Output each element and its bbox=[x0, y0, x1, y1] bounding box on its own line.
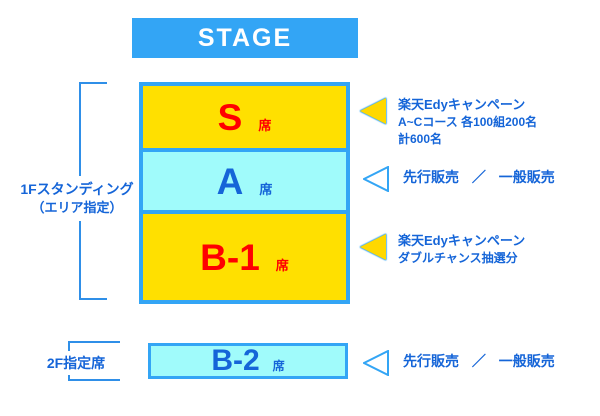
annotation-b1-seat: 楽天Edyキャンペーン ダブルチャンス抽選分 bbox=[360, 232, 525, 267]
seat-block-b2-letter: B-2 bbox=[211, 346, 259, 376]
annotation-s-seat-text: 楽天Edyキャンペーン A~Cコース 各100組200名 計600名 bbox=[398, 96, 537, 149]
annotation-a-seat-separator: ／ bbox=[463, 169, 495, 185]
seat-block-s-suffix: 席 bbox=[258, 119, 271, 132]
annotation-b1-seat-line2: ダブルチャンス抽選分 bbox=[398, 250, 525, 267]
seat-block-b2[interactable]: B-2 席 bbox=[148, 343, 348, 379]
floor1-group-label: 1Fスタンディング （エリア指定） bbox=[2, 176, 152, 221]
seat-block-a[interactable]: A 席 bbox=[143, 148, 346, 210]
seat-block-s-label: S 席 bbox=[218, 99, 272, 136]
annotation-s-seat: 楽天Edyキャンペーン A~Cコース 各100組200名 計600名 bbox=[360, 96, 537, 149]
seat-block-s-letter: S bbox=[218, 99, 243, 136]
seat-block-b1-suffix: 席 bbox=[276, 259, 289, 272]
seat-block-b1-label: B-1 席 bbox=[200, 239, 289, 276]
annotation-a-seat-text: 先行販売 ／ 一般販売 bbox=[403, 169, 555, 186]
annotation-b2-seat-separator: ／ bbox=[463, 353, 495, 369]
floor2-group-label: 2F指定席 bbox=[30, 351, 122, 375]
annotation-b1-seat-text: 楽天Edyキャンペーン ダブルチャンス抽選分 bbox=[398, 232, 525, 267]
seat-block-a-suffix: 席 bbox=[259, 183, 272, 196]
annotation-b2-seat: 先行販売 ／ 一般販売 bbox=[363, 350, 555, 376]
seat-block-b1[interactable]: B-1 席 bbox=[143, 210, 346, 300]
seat-block-b1-letter: B-1 bbox=[200, 239, 260, 276]
annotation-b2-seat-first: 先行販売 bbox=[403, 353, 459, 369]
annotation-s-seat-line3: 計600名 bbox=[398, 131, 537, 148]
floor1-group-label-line1: 1Fスタンディング bbox=[20, 181, 133, 197]
triangle-left-filled-icon bbox=[360, 234, 386, 260]
annotation-a-seat-second: 一般販売 bbox=[499, 169, 555, 185]
annotation-b1-seat-title: 楽天Edyキャンペーン bbox=[398, 232, 525, 250]
seat-block-s[interactable]: S 席 bbox=[143, 86, 346, 148]
annotation-s-seat-title: 楽天Edyキャンペーン bbox=[398, 96, 537, 114]
annotation-a-seat: 先行販売 ／ 一般販売 bbox=[363, 166, 555, 192]
annotation-b2-seat-second: 一般販売 bbox=[499, 353, 555, 369]
stage-label: STAGE bbox=[198, 24, 292, 53]
triangle-left-outline-icon bbox=[363, 166, 389, 192]
annotation-s-seat-line2: A~Cコース 各100組200名 bbox=[398, 114, 537, 131]
stage-bar: STAGE bbox=[132, 18, 358, 58]
seat-block-a-letter: A bbox=[217, 163, 244, 200]
seat-block-b2-label: B-2 席 bbox=[211, 346, 284, 376]
triangle-left-filled-icon bbox=[360, 98, 386, 124]
seat-block-a-label: A 席 bbox=[217, 163, 273, 200]
floor1-group-label-line2: （エリア指定） bbox=[2, 199, 152, 218]
seat-block-b2-suffix: 席 bbox=[273, 360, 285, 372]
annotation-b2-seat-text: 先行販売 ／ 一般販売 bbox=[403, 353, 555, 370]
triangle-left-outline-icon bbox=[363, 350, 389, 376]
floor1-seat-stack: S 席 A 席 B-1 席 bbox=[139, 82, 350, 304]
annotation-a-seat-first: 先行販売 bbox=[403, 169, 459, 185]
